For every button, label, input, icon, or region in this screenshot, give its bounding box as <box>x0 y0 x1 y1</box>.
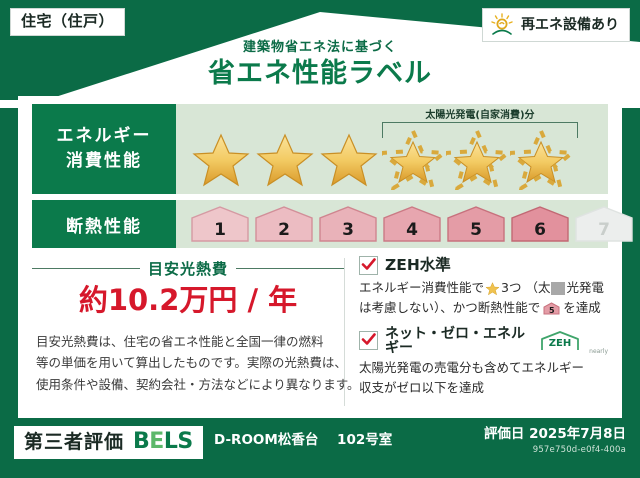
utility-cost-heading-label: 目安光熱費 <box>148 258 228 279</box>
utility-cost-heading: 目安光熱費 <box>32 258 344 279</box>
energy-performance-content: 太陽光発電(自家消費)分 <box>176 104 608 194</box>
bels-logo-b: B <box>133 429 149 454</box>
utility-cost-note-line2: 等の単価を用いて算出したものです。実際の光熱費は、 <box>36 352 340 374</box>
cost-rule-right <box>236 268 344 270</box>
zeh-standard-body: エネルギー消費性能で 3つ （太 光発電 は考慮しない）、かつ断熱性能で <box>359 278 608 319</box>
insulation-grade-value: 5 <box>446 222 506 239</box>
insulation-grade-value: 7 <box>574 222 634 239</box>
utility-cost-note-line1: 目安光熱費は、住宅の省エネ性能と全国一律の燃料 <box>36 331 340 353</box>
building-info: D-ROOM松香台 102号室 <box>214 434 392 448</box>
insulation-performance-label-box: 断熱性能 <box>32 200 176 248</box>
zeh-section: ZEH水準 エネルギー消費性能で 3つ （太 光発電 <box>345 256 608 408</box>
star-filled <box>254 128 316 190</box>
bels-jp-label: 第三者評価 <box>24 433 124 452</box>
house-type-badge: 住宅（住戸） <box>10 8 125 36</box>
star-solar-dashed <box>446 128 508 190</box>
label-title-main: 省エネ性能ラベル <box>0 57 640 91</box>
utility-cost-section: 目安光熱費 約10.2万円 / 年 目安光熱費は、住宅の省エネ性能と全国一律の燃… <box>32 256 344 408</box>
star-rating <box>190 128 572 190</box>
inline-insulation-grade-icon: 5 <box>543 302 560 315</box>
zeh-standard-body-a: エネルギー消費性能で <box>359 278 484 298</box>
zeh-standard-head: ZEH水準 <box>359 256 608 275</box>
zeh-standard-item: ZEH水準 エネルギー消費性能で 3つ （太 光発電 <box>359 256 608 319</box>
insulation-grade-badge: 3 <box>318 205 378 243</box>
star-solar-dashed <box>382 128 444 190</box>
insulation-grade-value: 6 <box>510 222 570 239</box>
cost-rule-left <box>32 268 140 270</box>
renewable-equipment-label: 再エネ設備あり <box>521 18 619 32</box>
zeh-logo-text: ZEH <box>549 338 571 349</box>
energy-performance-label-line2: 消費性能 <box>66 149 142 174</box>
utility-cost-note: 目安光熱費は、住宅の省エネ性能と全国一律の燃料 等の単価を用いて算出したものです… <box>32 331 344 396</box>
insulation-grade-row: 1 2 3 4 5 <box>190 205 634 243</box>
utility-cost-note-line3: 使用条件や設備、契約会社・方法などにより異なります。 <box>36 374 340 396</box>
net-zero-energy-body-line2: 収支がゼロ以下を達成 <box>359 378 608 398</box>
insulation-performance-label: 断熱性能 <box>66 212 142 237</box>
label-title-block: 建築物省エネ法に基づく 省エネ性能ラベル <box>0 40 640 90</box>
evaluation-info: 評価日 2025年7月8日 957e750d-e0f4-400a <box>484 427 626 456</box>
redacted-mosaic <box>551 282 565 295</box>
star-solar-dashed <box>510 128 572 190</box>
bels-logo-ls: LS <box>164 429 193 454</box>
insulation-performance-content: 1 2 3 4 5 <box>176 200 608 248</box>
insulation-grade-badge: 1 <box>190 205 250 243</box>
zeh-standard-checkbox <box>359 256 378 275</box>
zeh-standard-title: ZEH水準 <box>385 258 451 274</box>
solar-bracket-label: 太陽光発電(自家消費)分 <box>372 106 588 121</box>
net-zero-energy-checkbox <box>359 331 378 350</box>
sun-icon <box>489 13 515 37</box>
insulation-performance-row: 断熱性能 1 2 3 <box>32 200 608 248</box>
main-panel: エネルギー 消費性能 太陽光発電(自家消費)分 <box>18 96 622 418</box>
energy-performance-label: 住宅（住戸） 再エネ設備あり 建築物省エネ法に基づく 省エネ性能ラベル エネルギ… <box>0 0 640 478</box>
label-footer: 第三者評価 BELS D-ROOM松香台 102号室 評価日 2025年7月8日… <box>0 418 640 478</box>
house-type-badge-label: 住宅（住戸） <box>21 12 114 30</box>
lower-section: 目安光熱費 約10.2万円 / 年 目安光熱費は、住宅の省エネ性能と全国一律の燃… <box>32 256 608 408</box>
star-filled <box>318 128 380 190</box>
zeh-standard-body-b: 光発電 <box>566 278 604 298</box>
insulation-grade-badge: 2 <box>254 205 314 243</box>
insulation-grade-badge-inactive: 7 <box>574 205 634 243</box>
evaluation-date: 評価日 2025年7月8日 <box>484 427 626 442</box>
zeh-standard-body-c: は考慮しない）、かつ断熱性能で <box>359 298 540 318</box>
check-icon <box>361 332 376 347</box>
insulation-grade-value: 1 <box>190 222 250 239</box>
utility-cost-value: 約10.2万円 / 年 <box>32 285 344 317</box>
net-zero-energy-body-line1: 太陽光発電の売電分も含めてエネルギー <box>359 358 608 378</box>
energy-performance-label-box: エネルギー 消費性能 <box>32 104 176 194</box>
building-name: D-ROOM松香台 <box>214 432 318 448</box>
net-zero-energy-body: 太陽光発電の売電分も含めてエネルギー 収支がゼロ以下を達成 <box>359 358 608 399</box>
bels-logo: BELS <box>133 431 193 453</box>
record-id: 957e750d-e0f4-400a <box>484 445 626 456</box>
bels-logo-e: E <box>149 429 164 454</box>
bels-certification-badge: 第三者評価 BELS <box>14 426 203 459</box>
net-zero-energy-title: ネット・ゼロ・エネルギー <box>385 327 532 355</box>
renewable-equipment-badge: 再エネ設備あり <box>482 8 630 42</box>
insulation-grade-badge: 4 <box>382 205 442 243</box>
insulation-grade-value: 3 <box>318 222 378 239</box>
net-zero-energy-head: ネット・ゼロ・エネルギー ZEH nearly <box>359 327 608 355</box>
star-filled <box>190 128 252 190</box>
zeh-house-logo-icon: ZEH <box>539 330 581 352</box>
zeh-standard-body-d: を達成 <box>563 298 601 318</box>
check-icon <box>361 257 376 272</box>
inline-star-icon <box>485 281 500 296</box>
insulation-grade-badge: 6 <box>510 205 570 243</box>
insulation-grade-value: 4 <box>382 222 442 239</box>
label-title-sub: 建築物省エネ法に基づく <box>0 40 640 56</box>
insulation-grade-value: 2 <box>254 222 314 239</box>
inline-insulation-grade-value: 5 <box>543 307 560 315</box>
room-number: 102号室 <box>337 432 392 448</box>
energy-performance-label-line1: エネルギー <box>57 124 152 149</box>
zeh-logo-sub-label: nearly <box>589 348 608 355</box>
zeh-standard-body-stars: 3つ （太 <box>501 278 550 298</box>
net-zero-energy-item: ネット・ゼロ・エネルギー ZEH nearly 太陽光発電の売電分も含めてエネル… <box>359 327 608 399</box>
insulation-grade-badge: 5 <box>446 205 506 243</box>
energy-performance-row: エネルギー 消費性能 太陽光発電(自家消費)分 <box>32 104 608 194</box>
